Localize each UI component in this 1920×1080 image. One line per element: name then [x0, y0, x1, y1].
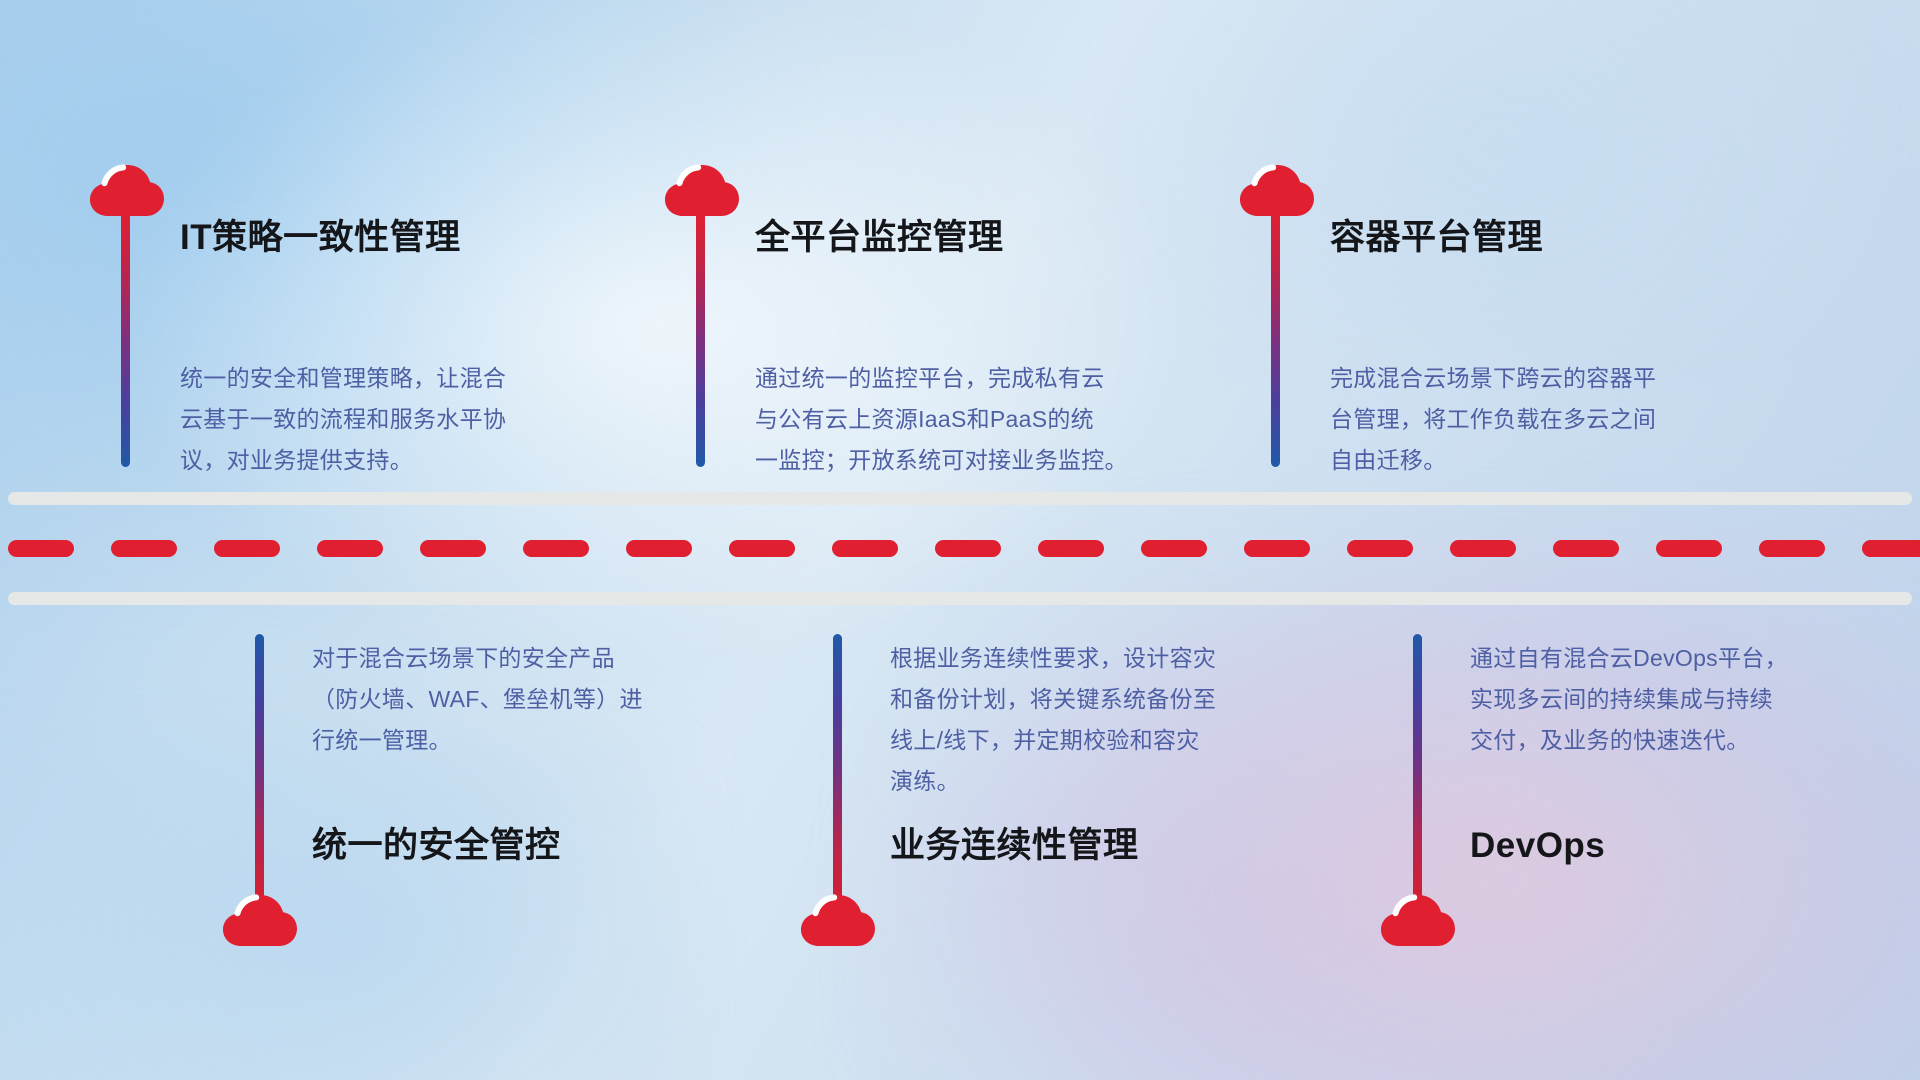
item-title: 容器平台管理	[1330, 220, 1543, 255]
item-title: IT策略一致性管理	[180, 220, 461, 255]
road-dash-marker	[1450, 540, 1516, 557]
item-title: DevOps	[1470, 828, 1605, 863]
road-edge-top	[8, 492, 1912, 505]
cloud-pin-icon	[88, 160, 166, 220]
road-dash-marker	[420, 540, 486, 557]
road-dash-marker	[626, 540, 692, 557]
road-edge-bottom	[8, 592, 1912, 605]
item-title: 业务连续性管理	[890, 828, 1139, 863]
item-body: 完成混合云场景下跨云的容器平 台管理，将工作负载在多云之间 自由迁移。	[1330, 358, 1770, 481]
highway-divider	[0, 486, 1920, 616]
road-dash-marker	[1141, 540, 1207, 557]
timeline-stem	[833, 634, 842, 899]
cloud-pin-flipped-icon	[221, 890, 299, 950]
item-title: 全平台监控管理	[755, 220, 1004, 255]
road-dash-lane	[0, 540, 1920, 557]
item-body: 根据业务连续性要求，设计容灾 和备份计划，将关键系统备份至 线上/线下，并定期校…	[890, 638, 1320, 802]
cloud-pin-icon	[1238, 160, 1316, 220]
item-body: 对于混合云场景下的安全产品 （防火墙、WAF、堡垒机等）进 行统一管理。	[312, 638, 742, 761]
item-body: 通过统一的监控平台，完成私有云 与公有云上资源IaaS和PaaS的统 一监控；开…	[755, 358, 1225, 481]
road-dash-marker	[111, 540, 177, 557]
road-dash-marker	[1244, 540, 1310, 557]
road-dash-marker	[1553, 540, 1619, 557]
infographic-stage: IT策略一致性管理 统一的安全和管理策略，让混合 云基于一致的流程和服务水平协 …	[0, 0, 1920, 1080]
cloud-pin-icon	[663, 160, 741, 220]
item-body: 统一的安全和管理策略，让混合 云基于一致的流程和服务水平协 议，对业务提供支持。	[180, 358, 610, 481]
road-dash-marker	[832, 540, 898, 557]
road-dash-marker	[1759, 540, 1825, 557]
timeline-stem	[1413, 634, 1422, 899]
road-dash-marker	[1347, 540, 1413, 557]
road-dash-marker	[729, 540, 795, 557]
road-dash-marker	[8, 540, 74, 557]
road-dash-marker	[1656, 540, 1722, 557]
timeline-stem	[121, 212, 130, 467]
road-dash-marker	[317, 540, 383, 557]
item-title: 统一的安全管控	[312, 828, 561, 863]
road-dash-marker	[214, 540, 280, 557]
road-dash-marker	[935, 540, 1001, 557]
cloud-pin-flipped-icon	[1379, 890, 1457, 950]
timeline-stem	[255, 634, 264, 899]
timeline-stem	[1271, 212, 1280, 467]
road-dash-marker	[1862, 540, 1920, 557]
road-dash-marker	[523, 540, 589, 557]
cloud-pin-flipped-icon	[799, 890, 877, 950]
timeline-stem	[696, 212, 705, 467]
item-body: 通过自有混合云DevOps平台， 实现多云间的持续集成与持续 交付，及业务的快速…	[1470, 638, 1900, 761]
road-dash-marker	[1038, 540, 1104, 557]
